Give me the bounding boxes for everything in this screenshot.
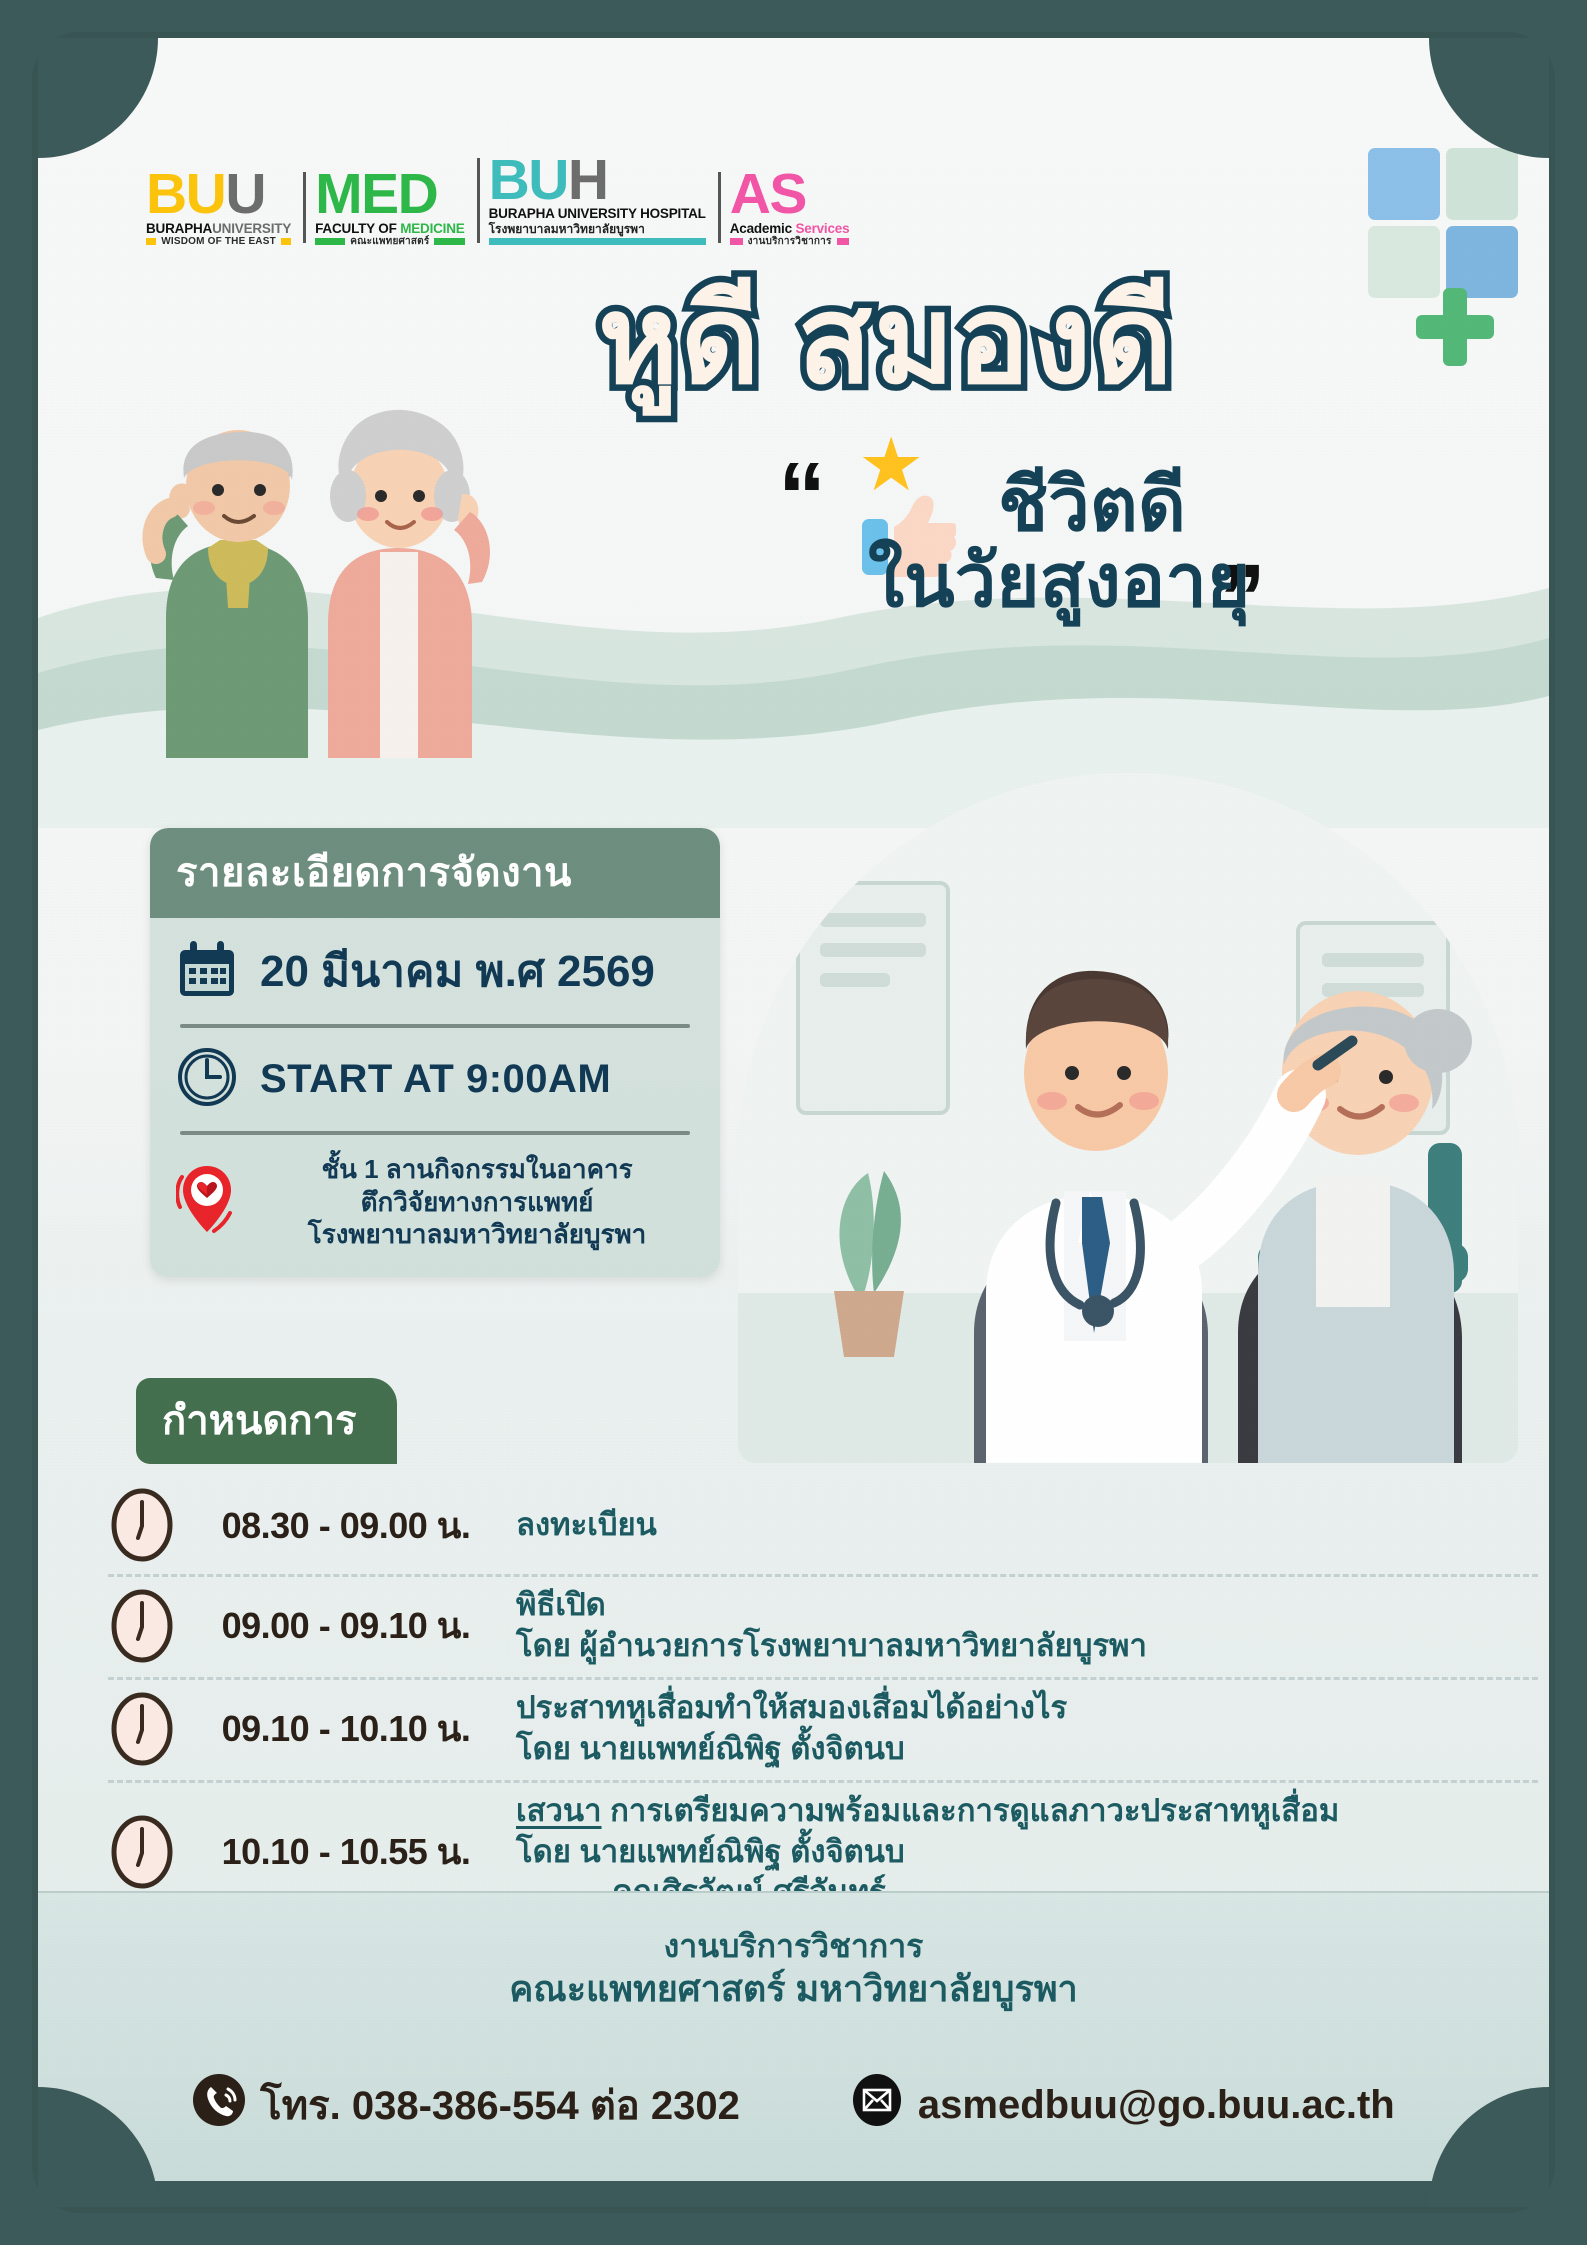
- buh-logo: BUHBURAPHA UNIVERSITY HOSPITALโรงพยาบาลม…: [477, 154, 718, 245]
- schedule-row: 08.30 - 09.00 น.ลงทะเบียน: [108, 1478, 1538, 1577]
- schedule-line: ประสาทหูเสื่อมทำให้สมองเสื่อมได้อย่างไร: [516, 1688, 1067, 1729]
- elderly-couple-illustration: [96, 368, 566, 758]
- event-location-row: ชั้น 1 ลานกิจกรรมในอาคารตึกวิจัยทางการแพ…: [150, 1135, 720, 1277]
- schedule-header: กำหนดการ: [136, 1378, 397, 1464]
- hero-title-text: หูดี สมองดี: [598, 278, 1538, 402]
- buu-logo-rule: WISDOM OF THE EAST: [146, 238, 291, 245]
- event-location-text: ชั้น 1 ลานกิจกรรมในอาคารตึกวิจัยทางการแพ…: [260, 1153, 694, 1251]
- buh-logo-subtitle: BURAPHA UNIVERSITY HOSPITAL: [489, 206, 706, 222]
- footer-org-line2: คณะแพทยศาสตร์ มหาวิทยาลัยบูรพา: [38, 1966, 1549, 2011]
- footer-email[interactable]: asmedbuu@go.buu.ac.th: [850, 2073, 1395, 2137]
- footer-contact: โทร. 038-386-554 ต่อ 2302 asmedbuu@go.bu…: [38, 2073, 1549, 2137]
- event-details-card: รายละเอียดการจัดงาน: [150, 828, 720, 1277]
- footer-phone[interactable]: โทร. 038-386-554 ต่อ 2302: [192, 2073, 740, 2137]
- buh-logo-wordmark: BUH: [489, 154, 706, 206]
- poster-frame: BUUBURAPHAUNIVERSITYWISDOM OF THE EASTME…: [38, 38, 1549, 2207]
- footer-phone-text: โทร. 038-386-554 ต่อ 2302: [260, 2073, 740, 2137]
- event-location-line-2: ตึกวิจัยทางการแพทย์: [260, 1186, 694, 1219]
- map-pin-heart-icon: [176, 1161, 238, 1242]
- buh-logo-rule: [489, 238, 706, 245]
- schedule-time: 09.10 - 10.10 น.: [196, 1700, 496, 1757]
- med-logo-rule: คณะแพทยศาสตร์: [315, 238, 464, 245]
- as-logo-rule: งานบริการวิชาการ: [730, 238, 850, 245]
- clock-icon: [108, 1486, 176, 1564]
- hero-subtitle-line1: ชีวิตดี: [998, 468, 1538, 542]
- deco-square-1: [1368, 148, 1440, 220]
- clock-icon: [176, 1046, 238, 1113]
- event-location-line-1: ชั้น 1 ลานกิจกรรมในอาคาร: [260, 1153, 694, 1186]
- phone-icon: [192, 2073, 246, 2137]
- event-date-text: 20 มีนาคม พ.ศ 2569: [260, 936, 655, 1006]
- logo-bar: BUUBURAPHAUNIVERSITYWISDOM OF THE EASTME…: [134, 154, 861, 245]
- schedule-line-emphasis: เสวนา: [516, 1793, 602, 1828]
- as-logo: ASAcademic Servicesงานบริการวิชาการ: [718, 168, 862, 245]
- footer-organization: งานบริการวิชาการ คณะแพทยศาสตร์ มหาวิทยาล…: [38, 1926, 1549, 2011]
- med-logo-wordmark: MED: [315, 168, 464, 220]
- schedule-line: เสวนา การเตรียมความพร้อมและการดูแลภาวะปร…: [516, 1791, 1339, 1832]
- med-logo: MEDFACULTY OF MEDICINEคณะแพทยศาสตร์: [303, 168, 476, 245]
- schedule-line: พิธีเปิด: [516, 1585, 1147, 1626]
- calendar-icon: [176, 938, 238, 1005]
- schedule-row: 09.00 - 09.10 น.พิธีเปิดโดย ผู้อำนวยการโ…: [108, 1577, 1538, 1680]
- event-time-row: START AT 9:00AM: [150, 1028, 720, 1131]
- schedule-time: 10.10 - 10.55 น.: [196, 1823, 496, 1880]
- schedule-time: 09.00 - 09.10 น.: [196, 1597, 496, 1654]
- event-details-header: รายละเอียดการจัดงาน: [150, 828, 720, 918]
- footer-org-line1: งานบริการวิชาการ: [38, 1926, 1549, 1966]
- schedule-row: 09.10 - 10.10 น.ประสาทหูเสื่อมทำให้สมองเ…: [108, 1680, 1538, 1783]
- schedule-line: ลงทะเบียน: [516, 1505, 657, 1546]
- schedule-line: โดย นายแพทย์ณิพิฐ ตั้งจิตนบ: [516, 1832, 1339, 1873]
- envelope-icon: [850, 2073, 904, 2137]
- buu-logo: BUUBURAPHAUNIVERSITYWISDOM OF THE EAST: [134, 168, 303, 245]
- schedule-time: 08.30 - 09.00 น.: [196, 1497, 496, 1554]
- footer-bottom-bar: [38, 2181, 1549, 2207]
- quote-open-icon: “: [778, 468, 826, 526]
- footer-email-text: asmedbuu@go.buu.ac.th: [918, 2083, 1395, 2128]
- schedule-line: โดย นายแพทย์ณิพิฐ ตั้งจิตนบ: [516, 1729, 1067, 1770]
- hero-title: หูดี สมองดี: [598, 278, 1538, 402]
- clock-icon: [108, 1587, 176, 1665]
- buh-logo-thai: โรงพยาบาลมหาวิทยาลัยบูรพา: [489, 222, 706, 236]
- event-location-line-3: โรงพยาบาลมหาวิทยาลัยบูรพา: [260, 1218, 694, 1251]
- clock-icon: [108, 1813, 176, 1891]
- poster-root: BUUBURAPHAUNIVERSITYWISDOM OF THE EASTME…: [0, 0, 1587, 2245]
- as-logo-wordmark: AS: [730, 168, 850, 220]
- schedule-line: โดย ผู้อำนวยการโรงพยาบาลมหาวิทยาลัยบูรพา: [516, 1626, 1147, 1667]
- hero-subtitle-line2: ในวัยสูงอายุ: [868, 542, 1538, 620]
- schedule-description: พิธีเปิดโดย ผู้อำนวยการโรงพยาบาลมหาวิทยา…: [516, 1585, 1147, 1667]
- schedule-description: ลงทะเบียน: [516, 1505, 657, 1546]
- deco-square-2: [1446, 148, 1518, 220]
- buu-logo-wordmark: BUU: [146, 168, 291, 220]
- schedule-description: ประสาทหูเสื่อมทำให้สมองเสื่อมได้อย่างไรโ…: [516, 1688, 1067, 1770]
- hero-subtitle: ชีวิตดี ในวัยสูงอายุ: [838, 468, 1538, 620]
- clock-icon: [108, 1690, 176, 1768]
- event-time-text: START AT 9:00AM: [260, 1057, 611, 1102]
- buu-logo-subtitle: BURAPHAUNIVERSITY: [146, 221, 291, 237]
- event-date-row: 20 มีนาคม พ.ศ 2569: [150, 918, 720, 1024]
